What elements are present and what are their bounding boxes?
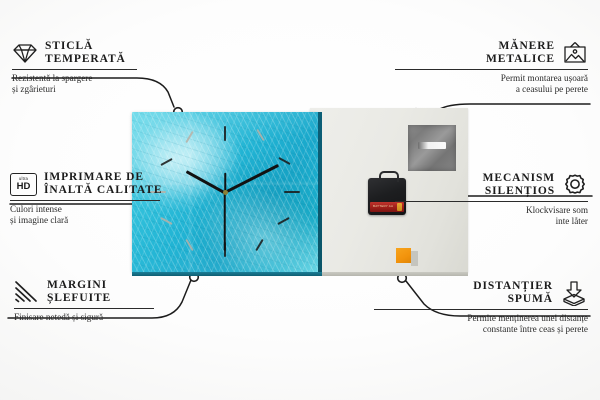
feature-rule [395, 69, 588, 70]
tick-12 [224, 126, 226, 141]
clock-face-bottom-edge [132, 272, 322, 276]
diamond-icon [12, 42, 38, 64]
battery-label: BATTERY AA [373, 204, 393, 208]
feature-silent-mechanism: MECANISM SILENȚIOS Klockvisare som inte … [395, 172, 588, 228]
hanger-slot [418, 142, 446, 149]
feature-foam-spacer: DISTANȚIER SPUMĂ Permite menținerea unei… [374, 280, 588, 336]
feature-description: Permite menținerea unei distanțe constan… [374, 313, 588, 336]
feature-rule [395, 201, 588, 202]
product-infographic: BATTERY AA [0, 0, 600, 400]
feature-high-quality-print: ultra HD IMPRIMARE DE ÎNALTĂ CALITATE Cu… [10, 171, 210, 227]
feature-tempered-glass: STICLĂ TEMPERATĂ Rezistentă la spargere … [12, 40, 207, 96]
metal-hanger-bracket [408, 125, 456, 171]
ultra-hd-icon: ultra HD [10, 173, 37, 196]
down-arrow-pad-icon [560, 280, 588, 306]
feature-title: STICLĂ TEMPERATĂ [45, 40, 126, 66]
feature-description: Klockvisare som inte låter [395, 205, 588, 228]
feature-rule [14, 308, 154, 309]
beveled-edge-icon [14, 280, 40, 304]
feature-title: DISTANȚIER SPUMĂ [473, 280, 553, 306]
feature-title: MECANISM SILENȚIOS [483, 172, 555, 198]
feature-title: IMPRIMARE DE ÎNALTĂ CALITATE [44, 171, 162, 197]
clock-back-panel-edge [310, 272, 468, 276]
picture-hanger-icon [562, 41, 588, 65]
feature-description: Rezistentă la spargere și zgârieturi [12, 73, 207, 96]
gear-icon [562, 173, 588, 198]
foam-spacer-shadow [411, 251, 418, 266]
second-hand [224, 193, 226, 251]
feature-rule [12, 69, 137, 70]
foam-spacer [396, 248, 411, 263]
feature-description: Permit montarea ușoară a ceasului pe per… [395, 73, 588, 96]
feature-description: Culori intense și imagine clară [10, 204, 210, 227]
clock-face-right-edge [318, 112, 322, 272]
feature-description: Finisare netedă și sigură [14, 312, 214, 323]
feature-polished-edges: MARGINI ȘLEFUITE Finisare netedă și sigu… [14, 279, 214, 323]
tick-3 [284, 191, 300, 193]
ultra-hd-hd-label: HD [17, 182, 31, 192]
feature-metal-handles: MĂNERE METALICE Permit montarea ușoară a… [395, 40, 588, 96]
feature-rule [374, 309, 588, 310]
feature-title: MĂNERE METALICE [486, 40, 555, 66]
feature-title: MARGINI ȘLEFUITE [47, 279, 111, 305]
hands-center-cap [223, 190, 228, 195]
feature-rule [10, 200, 160, 201]
